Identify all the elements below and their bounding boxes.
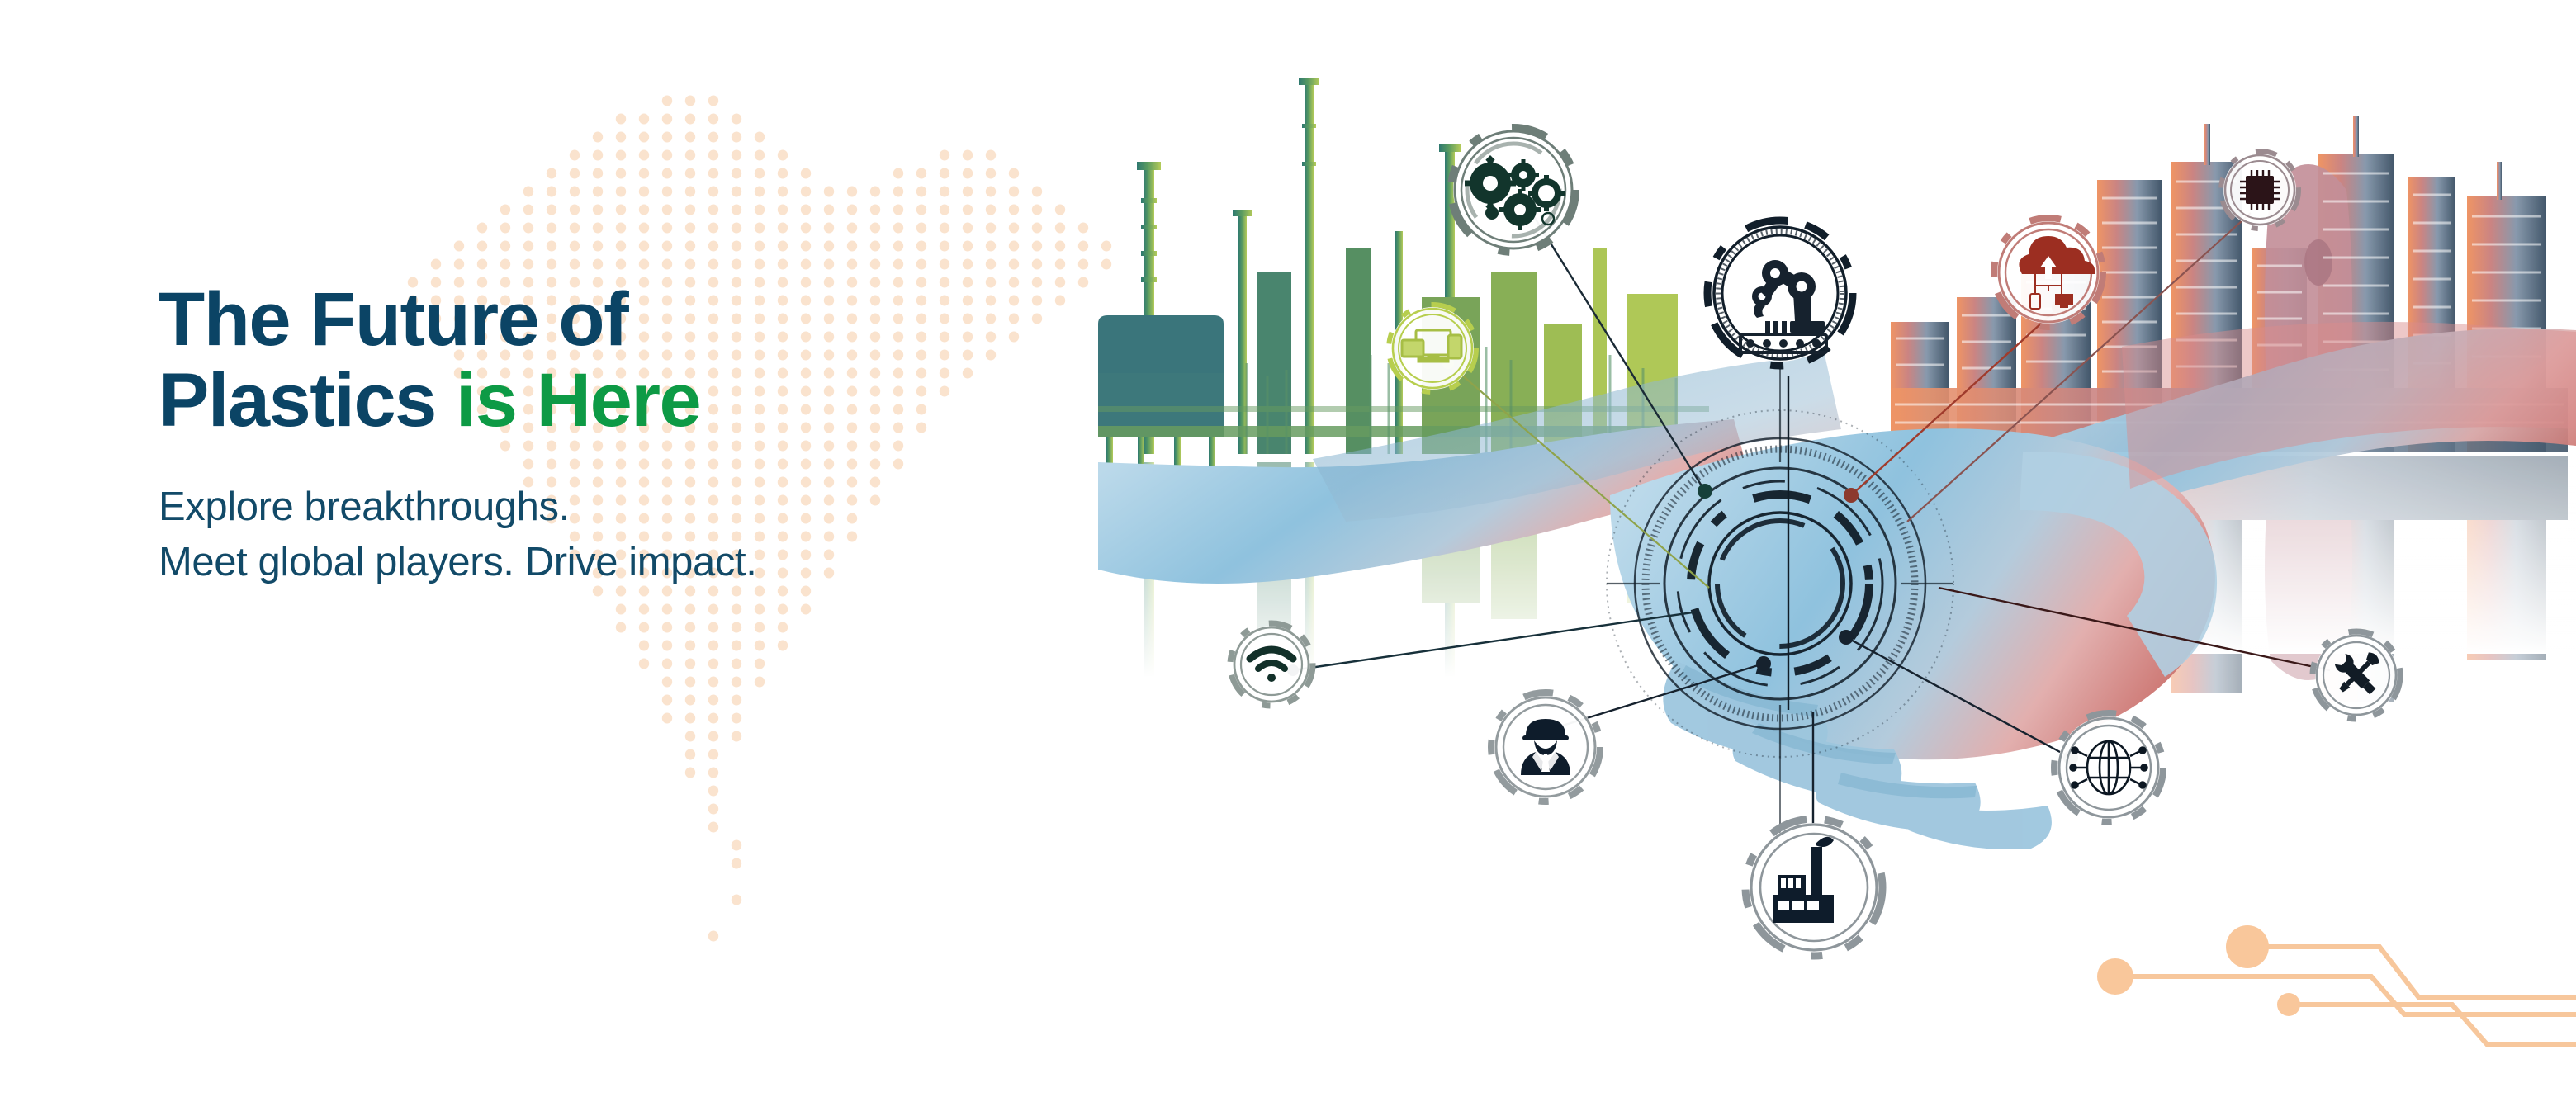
factory-icon bbox=[1745, 819, 1882, 956]
tools-wrench-icon bbox=[2313, 631, 2400, 719]
hero-banner: The Future of Plastics is Here Explore b… bbox=[0, 0, 2576, 1097]
subtitle-line-2: Meet global players. Drive impact. bbox=[159, 535, 756, 590]
subtitle-line-1: Explore breakthroughs. bbox=[159, 480, 756, 535]
headline-is-here: is Here bbox=[456, 358, 700, 442]
headline-line-2: Plastics is Here bbox=[159, 360, 756, 441]
hero-text-block: The Future of Plastics is Here Explore b… bbox=[159, 279, 756, 589]
headline-plastics: Plastics bbox=[159, 358, 436, 442]
gears-icon bbox=[1451, 127, 1576, 253]
engineer-worker-icon bbox=[1491, 693, 1600, 801]
page-title: The Future of Plastics is Here bbox=[159, 279, 756, 442]
hero-subtitle: Explore breakthroughs. Meet global playe… bbox=[159, 480, 756, 589]
headline-line-1: The Future of bbox=[159, 279, 756, 360]
robot-arm-icon bbox=[1707, 220, 1853, 366]
circuit-trace-decoration bbox=[2064, 882, 2576, 1097]
